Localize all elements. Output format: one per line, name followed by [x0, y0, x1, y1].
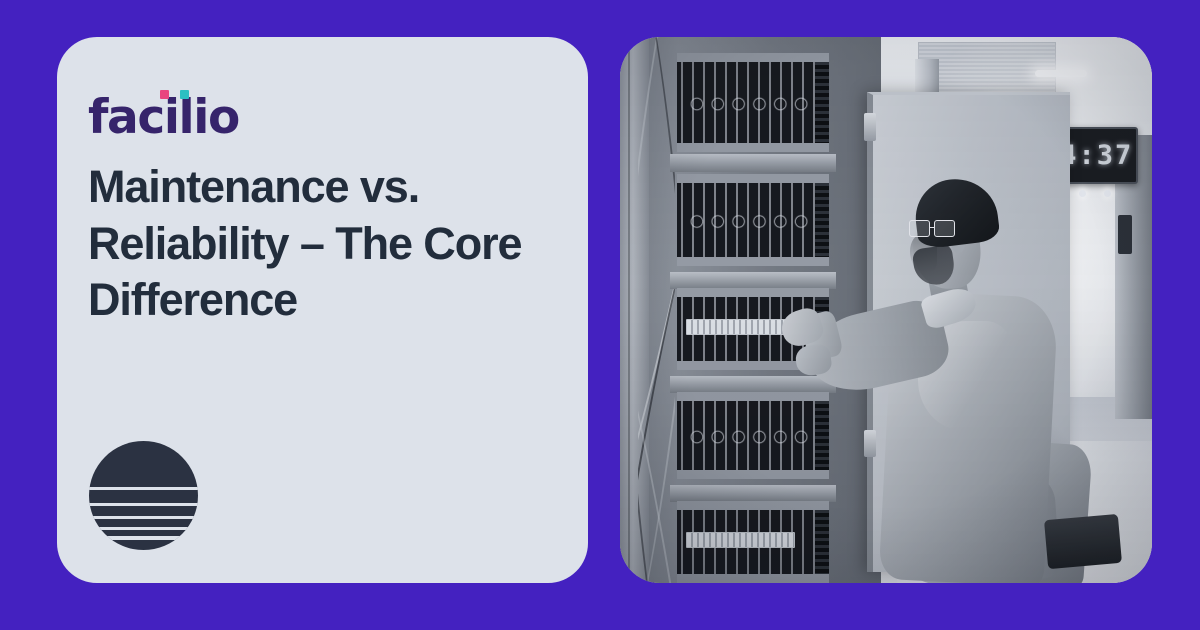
sunset-stripe [89, 487, 198, 490]
hero-photo-panel: EXIT 14:37 [620, 37, 1152, 583]
brand-logo[interactable]: facilio [88, 89, 239, 141]
page-title: Maintenance vs. Reliability – The Core D… [88, 159, 558, 329]
content-card: facilio Maintenance vs. Reliability – Th… [57, 37, 588, 583]
hero-photo: EXIT 14:37 [620, 37, 1152, 583]
sunset-stripe [89, 527, 198, 531]
photo-vignette [620, 37, 1152, 583]
og-card-canvas: facilio Maintenance vs. Reliability – Th… [0, 0, 1200, 630]
brand-wordmark: facilio [88, 94, 239, 141]
sunset-stripe [89, 536, 198, 540]
sunset-circle-icon [89, 441, 198, 550]
brand-i-dot-icon [160, 90, 169, 99]
brand-l-dot-icon [180, 90, 189, 99]
sunset-stripe [89, 503, 198, 506]
sunset-stripe [89, 516, 198, 519]
